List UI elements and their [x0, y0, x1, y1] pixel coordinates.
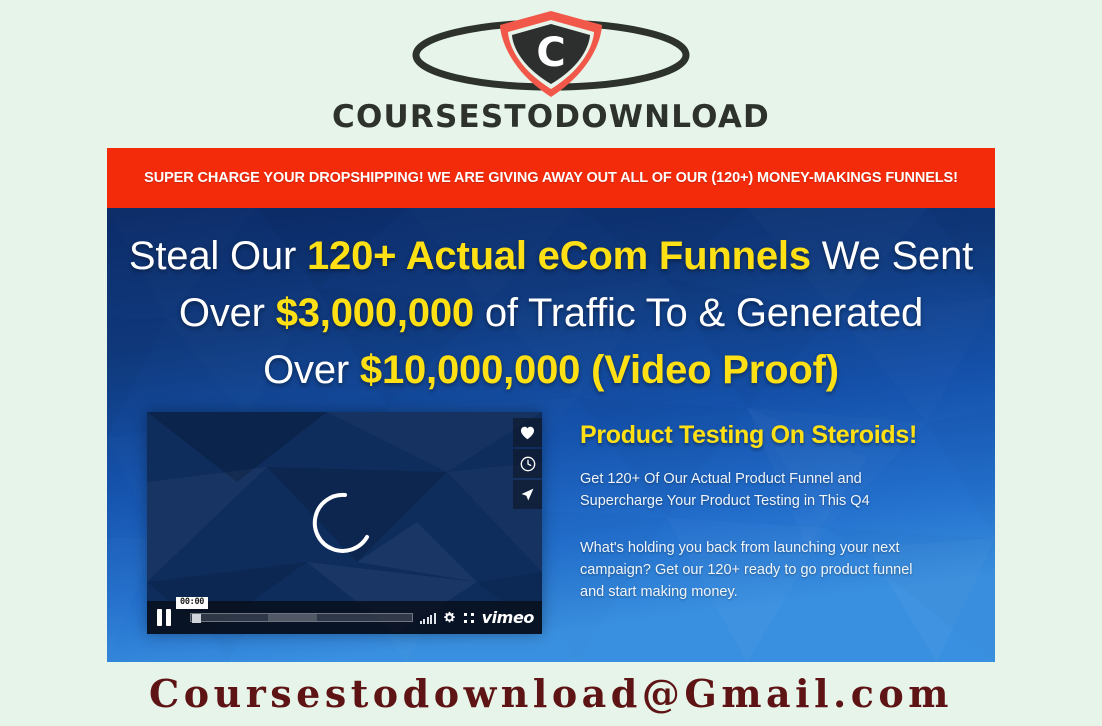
paper-plane-icon	[520, 487, 535, 502]
headline-3-pre: Over	[263, 348, 360, 392]
copy-body-line-3: and start making money.	[580, 582, 957, 604]
copy-body-line-1: What's holding you back from launching y…	[580, 538, 957, 560]
clock-icon	[520, 456, 536, 472]
brand-logo-mark[interactable]: C	[406, 8, 696, 100]
player-side-buttons	[513, 418, 542, 509]
promo-banner-text: SUPER CHARGE YOUR DROPSHIPPING! WE ARE G…	[144, 167, 958, 189]
watch-later-button[interactable]	[513, 449, 542, 478]
copy-title: Product Testing On Steroids!	[580, 420, 957, 450]
hero-headline: Steal Our 120+ Actual eCom Funnels We Se…	[107, 208, 995, 398]
seek-handle[interactable]	[192, 614, 201, 623]
copy-subtitle-line-1: Get 120+ Of Our Actual Product Funnel an…	[580, 469, 957, 490]
share-button[interactable]	[513, 480, 542, 509]
headline-1-post: We Sent	[811, 234, 973, 278]
headline-2-post: of Traffic To & Generated	[474, 291, 923, 335]
heart-icon	[520, 426, 535, 440]
volume-icon[interactable]	[420, 612, 436, 624]
copy-body: What's holding you back from launching y…	[580, 538, 957, 603]
promo-banner[interactable]: SUPER CHARGE YOUR DROPSHIPPING! WE ARE G…	[107, 148, 995, 208]
pause-bar-right	[166, 609, 171, 626]
brand-wordmark: COURSESTODOWNLOAD	[332, 102, 770, 133]
contact-email[interactable]: Coursestodownload@Gmail.com	[149, 675, 953, 713]
contact-email-footer: Coursestodownload@Gmail.com	[0, 662, 1102, 726]
fullscreen-icon[interactable]	[463, 612, 475, 624]
seek-buffered-range	[268, 614, 317, 621]
loading-spinner-icon	[312, 490, 378, 556]
vimeo-video-player[interactable]: 00:00	[147, 412, 542, 634]
copy-subtitle-line-2: Supercharge Your Product Testing in This…	[580, 491, 957, 512]
player-right-controls: vimeo	[420, 610, 534, 626]
vimeo-logo[interactable]: vimeo	[482, 610, 534, 626]
seek-bar[interactable]: 00:00	[190, 601, 413, 634]
seek-track[interactable]	[190, 613, 413, 622]
headline-line-2: Over $3,000,000 of Traffic To & Generate…	[121, 285, 981, 342]
logo-monogram: C	[536, 30, 565, 76]
headline-3-highlight: $10,000,000 (Video Proof)	[360, 348, 839, 392]
headline-2-pre: Over	[179, 291, 276, 335]
pause-bar-left	[157, 609, 162, 626]
like-button[interactable]	[513, 418, 542, 447]
hero-lower-row: 00:00	[107, 412, 995, 634]
hero-copy-column: Product Testing On Steroids! Get 120+ Of…	[542, 412, 987, 634]
gear-icon[interactable]	[443, 611, 456, 624]
site-logo-header: C COURSESTODOWNLOAD	[0, 0, 1102, 148]
headline-line-1: Steal Our 120+ Actual eCom Funnels We Se…	[121, 228, 981, 285]
hero-section: Steal Our 120+ Actual eCom Funnels We Se…	[107, 208, 995, 662]
current-time-label: 00:00	[176, 597, 208, 608]
headline-1-highlight: 120+ Actual eCom Funnels	[307, 234, 811, 278]
copy-body-line-2: campaign? Get our 120+ ready to go produ…	[580, 560, 957, 582]
headline-2-highlight: $3,000,000	[276, 291, 474, 335]
headline-line-3: Over $10,000,000 (Video Proof)	[121, 342, 981, 399]
pause-button[interactable]	[157, 609, 174, 626]
headline-1-pre: Steal Our	[129, 234, 307, 278]
copy-subtitle: Get 120+ Of Our Actual Product Funnel an…	[580, 469, 957, 512]
player-control-bar[interactable]: 00:00	[147, 601, 542, 634]
